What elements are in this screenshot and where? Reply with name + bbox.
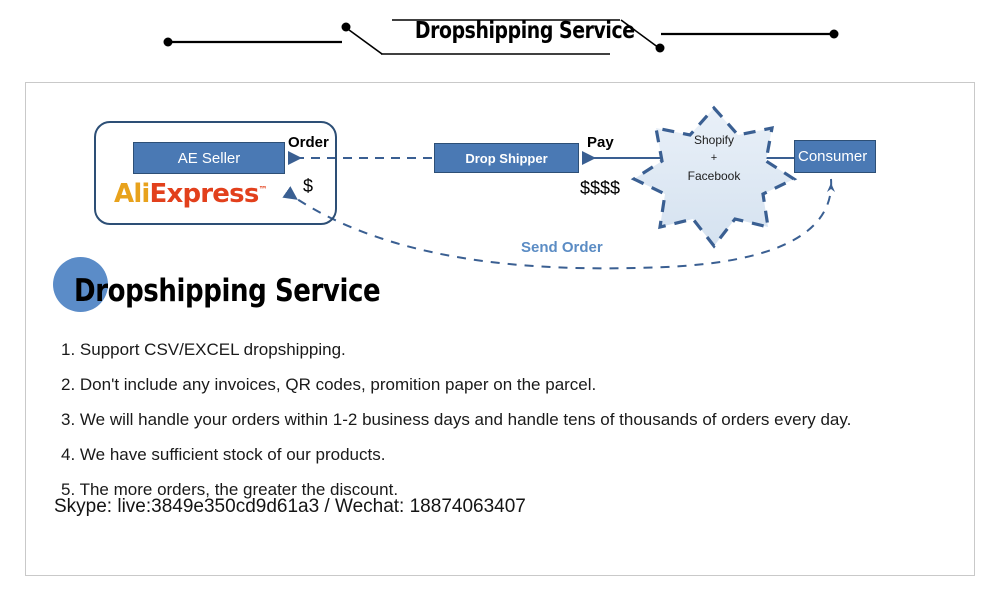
platform-facebook-label: Facebook [668, 167, 760, 186]
ae-seller-node[interactable]: AE Seller [133, 142, 285, 174]
page-banner: Dropshipping Service [0, 0, 1000, 70]
order-label: Order [288, 134, 329, 151]
service-bullet-list: 1. Support CSV/EXCEL dropshipping. 2. Do… [61, 341, 971, 516]
platform-star-label: Shopify + Facebook [668, 131, 760, 185]
consumer-label: Consumer [798, 148, 867, 165]
platform-plus-label: + [668, 150, 760, 167]
ae-seller-label: AE Seller [178, 150, 241, 167]
content-panel: AE Seller AliExpress™ Drop Shipper Consu… [25, 82, 975, 576]
banner-left-upper-dot [342, 23, 351, 32]
aliexpress-logo-express: Express [150, 179, 259, 209]
banner-left-dot [164, 38, 173, 47]
contact-info: Skype: live:3849e350cd9d61a3 / Wechat: 1… [54, 496, 526, 518]
aliexpress-logo-ali: Ali [114, 179, 150, 209]
section-title-block: Dropshipping Service [26, 253, 976, 313]
banner-right-lower-dot [656, 44, 665, 53]
consumer-node[interactable]: Consumer [794, 140, 876, 173]
banner-left-diagonal [345, 27, 382, 54]
aliexpress-logo-tm: ™ [259, 185, 267, 195]
drop-shipper-label: Drop Shipper [465, 151, 547, 166]
list-item: 2. Don't include any invoices, QR codes,… [61, 376, 971, 393]
dollar-label: $ [303, 176, 313, 197]
dollars-label: $$$$ [580, 178, 620, 199]
drop-shipper-node[interactable]: Drop Shipper [434, 143, 579, 173]
banner-title: Dropshipping Service [415, 18, 587, 44]
pay-label: Pay [587, 134, 614, 151]
platform-shopify-label: Shopify [668, 131, 760, 150]
section-title: Dropshipping Service [74, 273, 380, 309]
list-item: 4. We have sufficient stock of our produ… [61, 446, 971, 463]
send-order-arrowhead [827, 183, 835, 192]
list-item: 3. We will handle your orders within 1-2… [61, 411, 971, 428]
list-item: 1. Support CSV/EXCEL dropshipping. [61, 341, 971, 358]
aliexpress-logo: AliExpress™ [114, 179, 267, 209]
banner-right-dot [830, 30, 839, 39]
